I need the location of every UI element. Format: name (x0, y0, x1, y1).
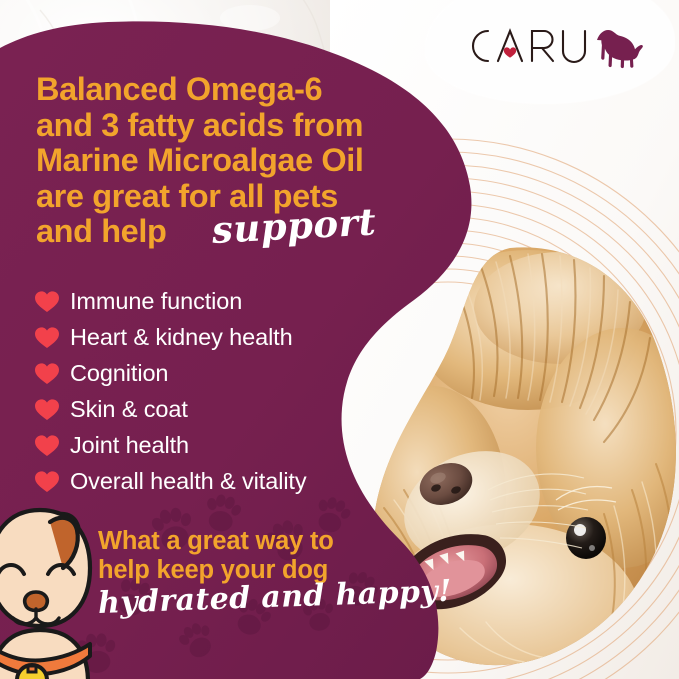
cta-block: What a great way to help keep your dog h… (98, 527, 428, 621)
list-item-label: Immune function (70, 288, 242, 314)
headline-script-word: support (211, 203, 377, 248)
list-item: Heart & kidney health (34, 319, 424, 355)
headline: Balanced Omega-6 and 3 fatty acids from … (36, 72, 436, 250)
list-item-label: Cognition (70, 360, 168, 386)
heart-icon (34, 290, 60, 314)
list-item-label: Heart & kidney health (70, 324, 293, 350)
headline-line-1: Balanced Omega-6 (36, 72, 436, 108)
list-item: Cognition (34, 355, 424, 391)
heart-icon (34, 398, 60, 422)
list-item-label: Skin & coat (70, 396, 188, 422)
list-item: Skin & coat (34, 391, 424, 427)
list-item: Overall health & vitality (34, 463, 424, 499)
list-item: Immune function (34, 283, 424, 319)
heart-icon (34, 362, 60, 386)
headline-line-3: Marine Microalgae Oil (36, 143, 436, 179)
caru-logo[interactable] (460, 18, 650, 74)
list-item: Joint health (34, 427, 424, 463)
headline-line-2: and 3 fatty acids from (36, 108, 436, 144)
heart-icon (34, 434, 60, 458)
product-infographic: Balanced Omega-6 and 3 fatty acids from … (0, 0, 679, 679)
cta-line-1: What a great way to (98, 527, 428, 556)
benefits-list: Immune function Heart & kidney health Co… (34, 283, 424, 499)
heart-icon (34, 470, 60, 494)
cartoon-dog-illustration (0, 496, 116, 679)
heart-icon (34, 326, 60, 350)
dog-silhouette-icon (597, 30, 643, 68)
list-item-label: Overall health & vitality (70, 468, 307, 494)
headline-line-5-wrap: and help support (36, 214, 436, 250)
list-item-label: Joint health (70, 432, 189, 458)
heart-icon (504, 47, 516, 57)
